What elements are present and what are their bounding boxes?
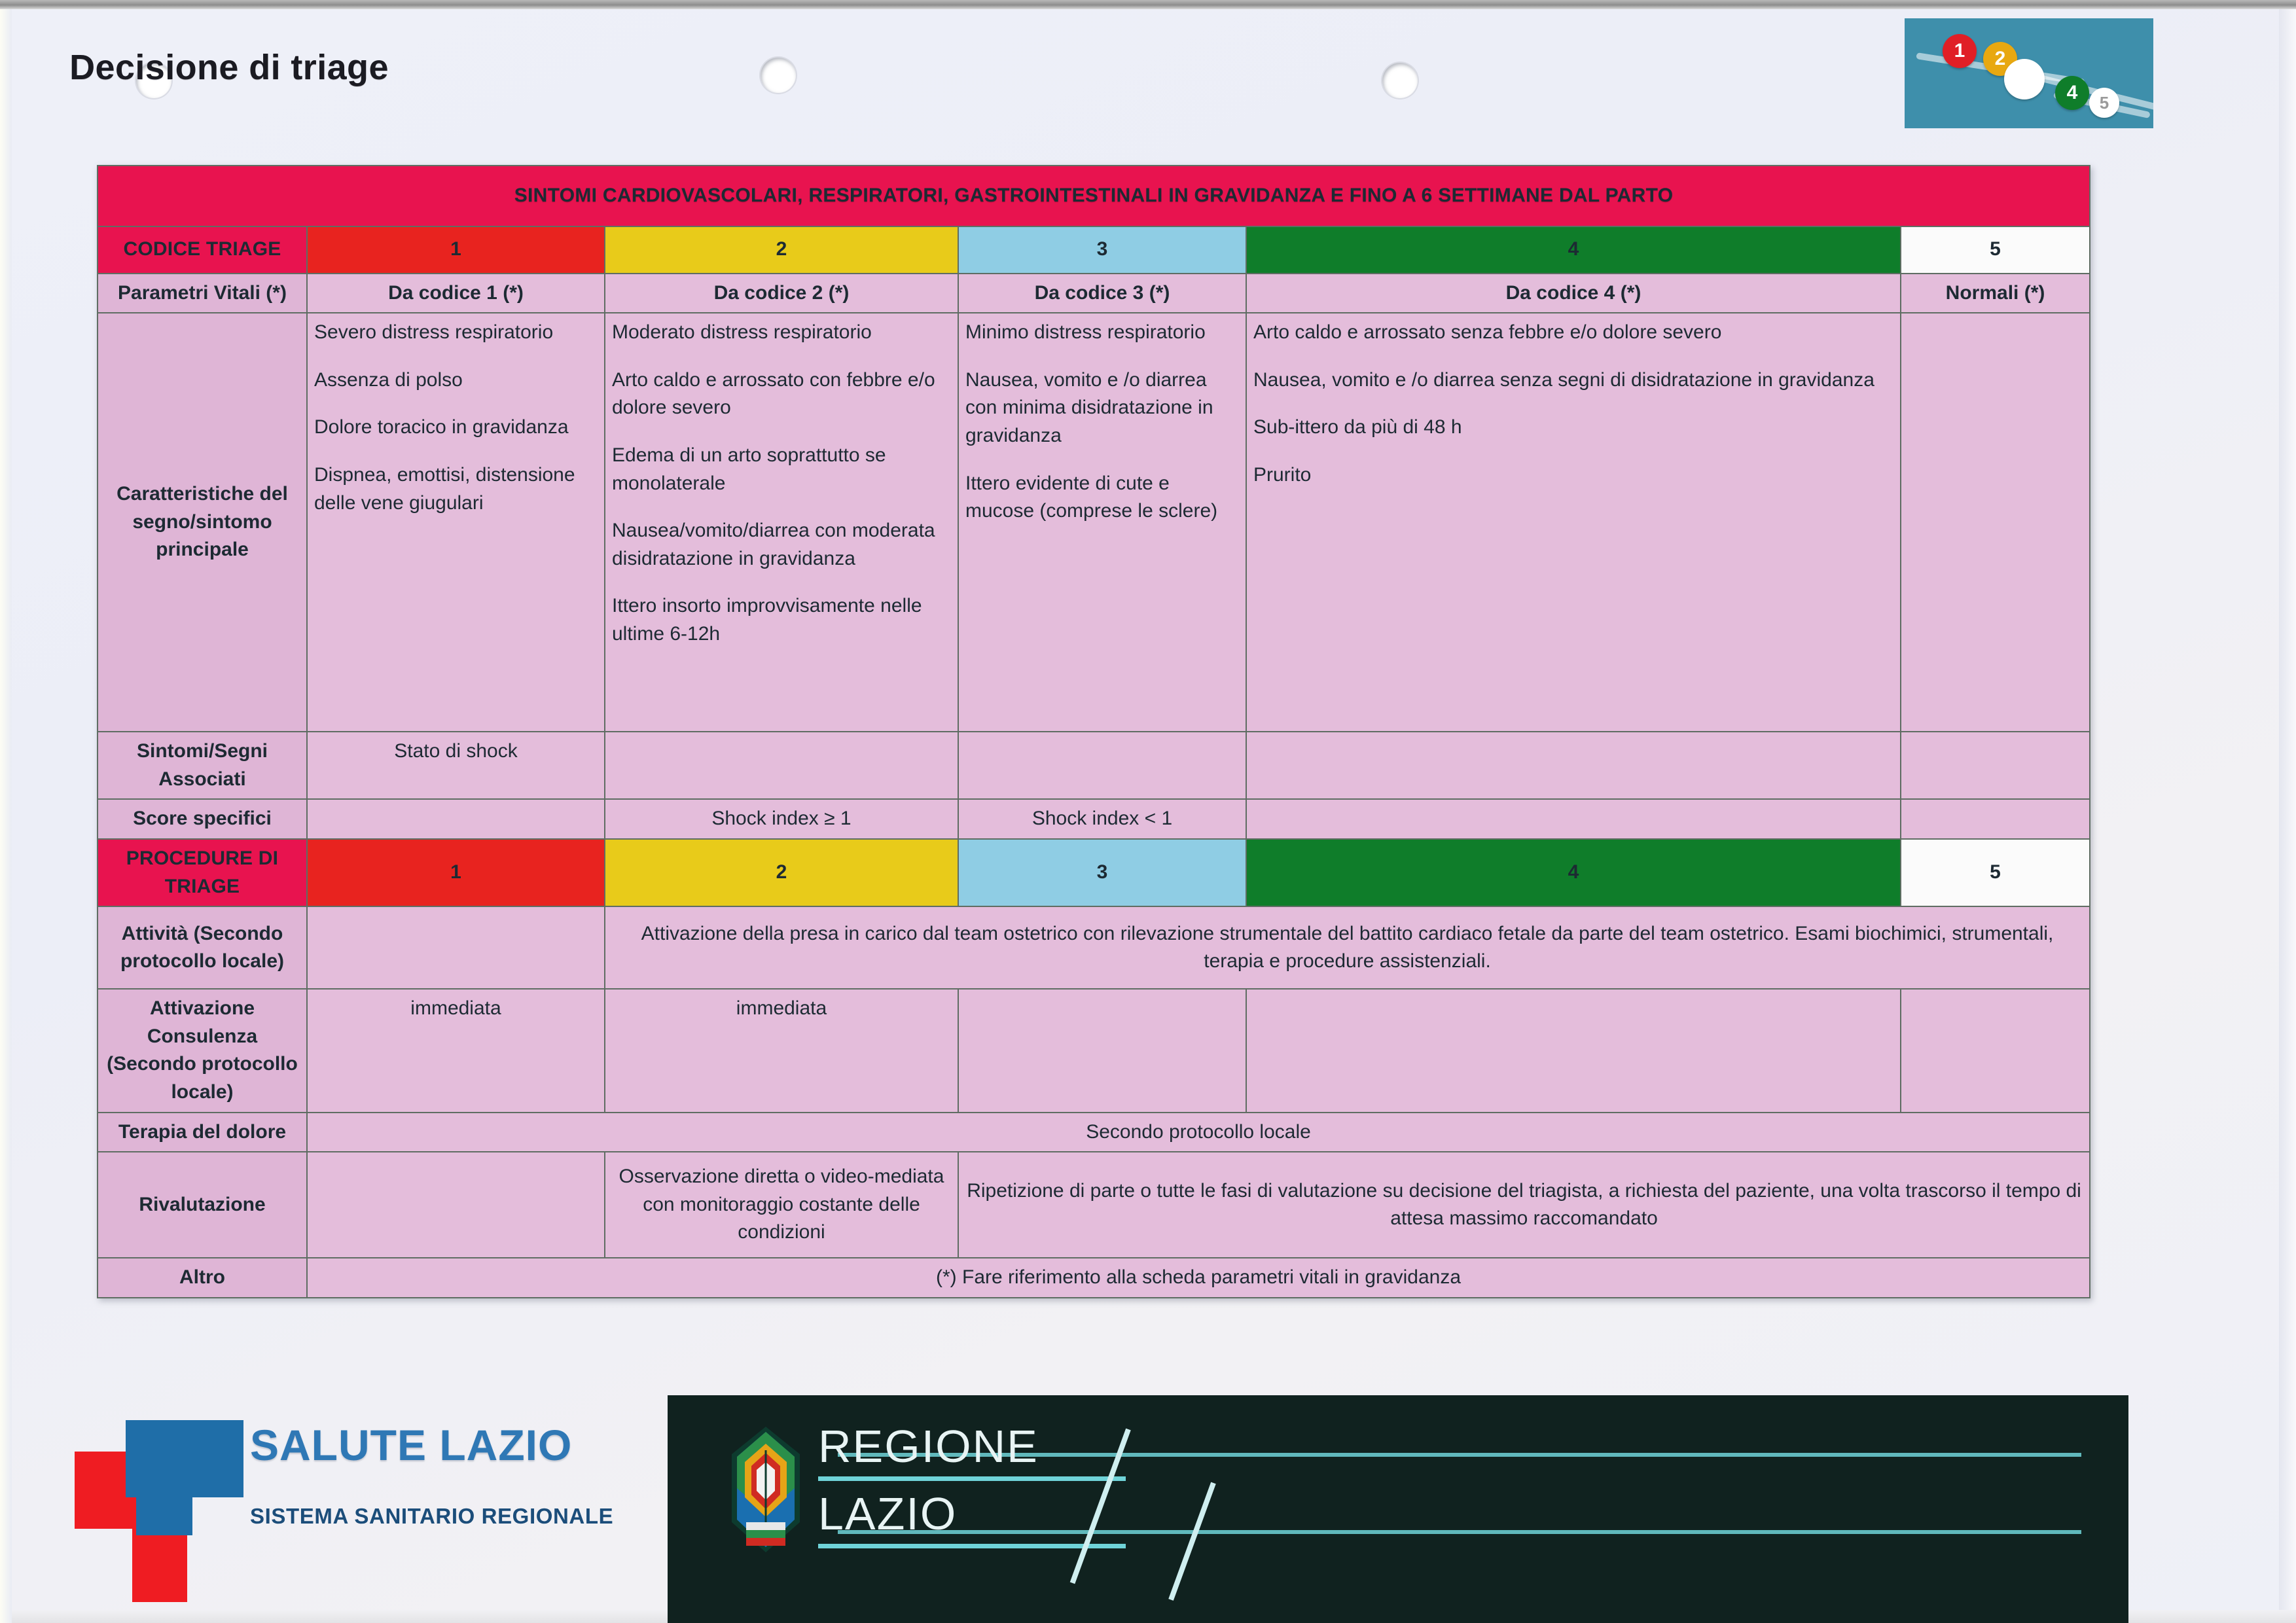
row-label-score-specifici: Score specifici [98,799,307,839]
score-specifici-col-5 [1901,799,2090,839]
symptom-item: Arto caldo e arrossato senza febbre e/o … [1253,319,1893,347]
page-edge-right [2279,9,2296,1623]
symptom-item: Minimo distress respiratorio [965,319,1239,347]
triage-decision-table: SINTOMI CARDIOVASCOLARI, RESPIRATORI, GA… [97,165,2090,1298]
table-row-attivita: Attività (Secondo protocollo locale) Att… [98,906,2090,989]
regione-rule [818,1544,1126,1548]
symptom-item: Arto caldo e arrossato con febbre e/o do… [612,366,951,422]
table-row-parametri-vitali: Parametri Vitali (*) Da codice 1 (*) Da … [98,274,2090,313]
caratteristiche-col-1: Severo distress respiratorio Assenza di … [307,313,605,732]
row-label-altro: Altro [98,1258,307,1298]
symptom-item: Dispnea, emottisi, distensione delle ven… [314,461,598,517]
code-cell-2: 2 [605,226,958,274]
symptom-item: Edema di un arto soprattutto se monolate… [612,442,951,497]
attivita-merged-cell: Attivazione della presa in carico dal te… [605,906,2090,989]
code-cell-4: 4 [1246,226,1901,274]
regione-lazio-wordmark: REGIONE LAZIO [818,1420,1126,1555]
salute-lazio-logo: SALUTE LAZIO SISTEMA SANITARIO REGIONALE [65,1414,655,1603]
triage-code-legend-graphic: 1 2 3 4 5 [1905,18,2153,128]
punch-hole [761,58,796,93]
row-label-caratteristiche-text: Caratteristiche del segno/sintomo princi… [105,480,300,564]
procedure-code-cell-1: 1 [307,839,605,906]
symptom-item: Nausea, vomito e /o diarrea con minima d… [965,366,1239,450]
procedure-code-cell-2: 2 [605,839,958,906]
symptom-item: Assenza di polso [314,366,598,395]
sintomi-associati-col-3 [958,732,1246,799]
parametri-vitali-5: Normali (*) [1901,274,2090,313]
legend-dot-3: 3 [2004,59,2045,99]
caratteristiche-col-4: Arto caldo e arrossato senza febbre e/o … [1246,313,1901,732]
procedure-code-cell-5: 5 [1901,839,2090,906]
procedure-di-triage-label: PROCEDURE DI TRIAGE [98,839,307,906]
score-specifici-col-2: Shock index ≥ 1 [605,799,958,839]
scanned-page: Decisione di triage 1 2 3 4 5 SINTOMI CA… [0,0,2296,1623]
rivalutazione-merged-right: Ripetizione di parte o tutte le fasi di … [958,1152,2090,1258]
caratteristiche-col-2: Moderato distress respiratorio Arto cald… [605,313,958,732]
salute-lazio-title: SALUTE LAZIO [250,1420,656,1470]
rivalutazione-col-1 [307,1152,605,1258]
sintomi-associati-col-5 [1901,732,2090,799]
regione-rule [818,1476,1126,1481]
code-cell-1: 1 [307,226,605,274]
row-label-parametri-vitali: Parametri Vitali (*) [98,274,307,313]
symptom-item: Sub-ittero da più di 48 h [1253,414,1893,442]
table-row-score-specifici: Score specifici Shock index ≥ 1 Shock in… [98,799,2090,839]
row-label-attivazione-consulenza: Attivazione Consulenza (Secondo protocol… [98,989,307,1112]
table-row-rivalutazione: Rivalutazione Osservazione diretta o vid… [98,1152,2090,1258]
regione-lazio-crest-icon [726,1424,805,1555]
table-row-sintomi-associati: Sintomi/Segni Associati Stato di shock [98,732,2090,799]
rivalutazione-col-2: Osservazione diretta o video-mediata con… [605,1152,958,1258]
legend-dot-4: 4 [2055,76,2089,110]
salute-lazio-subtitle: SISTEMA SANITARIO REGIONALE [250,1504,656,1529]
table-row-attivazione-consulenza: Attivazione Consulenza (Secondo protocol… [98,989,2090,1112]
caratteristiche-col-3: Minimo distress respiratorio Nausea, vom… [958,313,1246,732]
table-row-banner: SINTOMI CARDIOVASCOLARI, RESPIRATORI, GA… [98,166,2090,226]
symptom-item: Severo distress respiratorio [314,319,598,347]
table-row-terapia-dolore: Terapia del dolore Secondo protocollo lo… [98,1113,2090,1152]
row-label-attivita: Attività (Secondo protocollo locale) [98,906,307,989]
symptom-item: Ittero evidente di cute e mucose (compre… [965,470,1239,526]
sintomi-associati-col-1: Stato di shock [307,732,605,799]
table-row-codice-triage: CODICE TRIAGE 1 2 3 4 5 [98,226,2090,274]
score-specifici-col-1 [307,799,605,839]
page-title: Decisione di triage [0,47,458,88]
symptom-item: Nausea/vomito/diarrea con moderata disid… [612,517,951,573]
altro-merged-cell: (*) Fare riferimento alla scheda paramet… [307,1258,2090,1298]
terapia-dolore-merged-cell: Secondo protocollo locale [307,1113,2090,1152]
row-label-rivalutazione: Rivalutazione [98,1152,307,1258]
procedure-code-cell-4: 4 [1246,839,1901,906]
score-specifici-col-3: Shock index < 1 [958,799,1246,839]
parametri-vitali-4: Da codice 4 (*) [1246,274,1901,313]
legend-dot-1: 1 [1943,34,1977,68]
row-label-sintomi-associati: Sintomi/Segni Associati [98,732,307,799]
attivazione-consulenza-col-1: immediata [307,989,605,1112]
parametri-vitali-3: Da codice 3 (*) [958,274,1246,313]
symptom-item: Nausea, vomito e /o diarrea senza segni … [1253,366,1893,395]
symptom-item: Ittero insorto improvvisamente nelle ult… [612,592,951,648]
attivazione-consulenza-col-2: immediata [605,989,958,1112]
code-cell-3: 3 [958,226,1246,274]
caratteristiche-col-5 [1901,313,2090,732]
codice-triage-label: CODICE TRIAGE [98,226,307,274]
attivazione-consulenza-col-4 [1246,989,1901,1112]
row-label-caratteristiche: Caratteristiche del segno/sintomo princi… [98,313,307,732]
row-label-terapia-dolore: Terapia del dolore [98,1113,307,1152]
score-specifici-col-4 [1246,799,1901,839]
attivazione-consulenza-col-5 [1901,989,2090,1112]
symptom-item: Moderato distress respiratorio [612,319,951,347]
table-row-procedure-di-triage: PROCEDURE DI TRIAGE 1 2 3 4 5 [98,839,2090,906]
table-row-altro: Altro (*) Fare riferimento alla scheda p… [98,1258,2090,1298]
attivazione-consulenza-col-3 [958,989,1246,1112]
parametri-vitali-1: Da codice 1 (*) [307,274,605,313]
symptom-item: Prurito [1253,461,1893,490]
blue-cross-icon [136,1420,192,1535]
parametri-vitali-2: Da codice 2 (*) [605,274,958,313]
table-row-caratteristiche: Caratteristiche del segno/sintomo princi… [98,313,2090,732]
code-cell-5: 5 [1901,226,2090,274]
punch-hole [1382,63,1418,98]
attivita-col-1 [307,906,605,989]
sintomi-associati-col-2 [605,732,958,799]
regione-line-2: LAZIO [818,1488,1126,1540]
symptom-item: Dolore toracico in gravidanza [314,414,598,442]
banner-title: SINTOMI CARDIOVASCOLARI, RESPIRATORI, GA… [98,166,2090,226]
procedure-code-cell-3: 3 [958,839,1246,906]
regione-line-1: REGIONE [818,1420,1126,1472]
salute-lazio-text: SALUTE LAZIO SISTEMA SANITARIO REGIONALE [250,1420,656,1529]
legend-dot-5: 5 [2089,88,2119,118]
sintomi-associati-col-4 [1246,732,1901,799]
